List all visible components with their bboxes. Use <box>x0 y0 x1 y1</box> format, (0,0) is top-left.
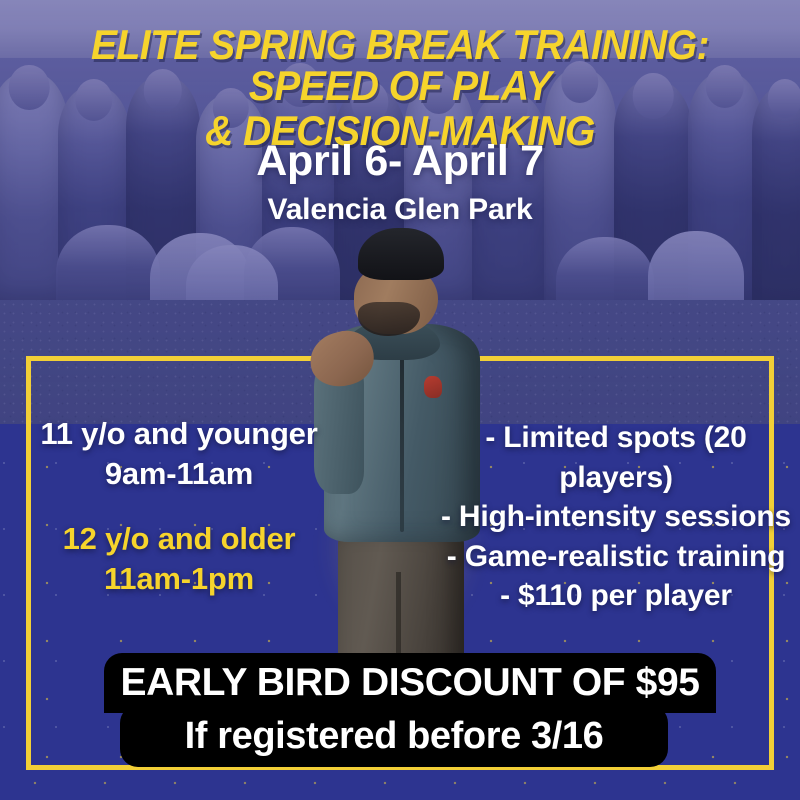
flyer-headline: ELITE SPRING BREAK TRAINING: SPEED OF PL… <box>41 24 759 151</box>
schedule-group-younger: 11 y/o and younger 9am-11am <box>14 414 344 493</box>
event-location: Valencia Glen Park <box>0 193 800 227</box>
schedule-group-older-time: 11am-1pm <box>14 559 344 599</box>
schedule-column: 11 y/o and younger 9am-11am 12 y/o and o… <box>14 414 344 625</box>
promo-banner-line-2: If registered before 3/16 <box>120 705 668 767</box>
detail-line: - Game-realistic training <box>440 537 792 577</box>
coach-beanie <box>358 228 444 280</box>
event-dates: April 6- April 7 <box>0 140 800 184</box>
coach-jacket-zipper <box>400 340 404 532</box>
schedule-group-older: 12 y/o and older 11am-1pm <box>14 519 344 598</box>
schedule-group-younger-time: 9am-11am <box>14 454 344 494</box>
coach-jacket-logo <box>424 376 442 398</box>
schedule-group-older-label: 12 y/o and older <box>14 519 344 559</box>
detail-line: - Limited spots (20 <box>440 418 792 458</box>
schedule-group-younger-label: 11 y/o and younger <box>14 414 344 454</box>
flyer-canvas: ELITE SPRING BREAK TRAINING: SPEED OF PL… <box>0 0 800 800</box>
detail-line: - $110 per player <box>440 576 792 616</box>
promo-banner-line-1: EARLY BIRD DISCOUNT OF $95 <box>104 653 716 713</box>
info-panel-footer-strip <box>0 770 800 800</box>
headline-line-1: ELITE SPRING BREAK TRAINING: SPEED OF PL… <box>41 24 759 106</box>
detail-line: players) <box>440 458 792 498</box>
detail-line: - High-intensity sessions <box>440 497 792 537</box>
details-column: - Limited spots (20 players) - High-inte… <box>440 418 792 616</box>
